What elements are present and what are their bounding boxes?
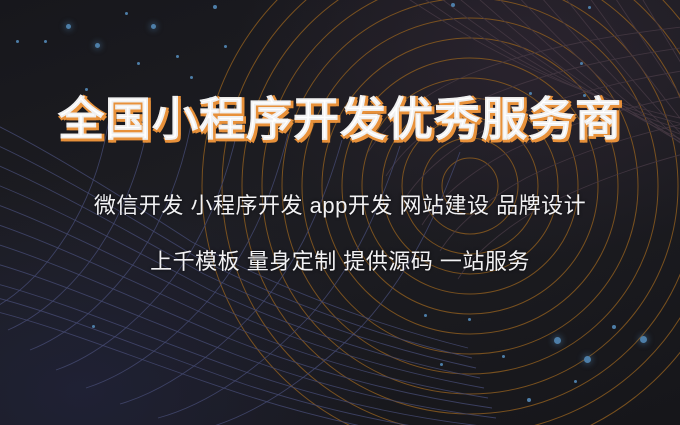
banner-title: 全国小程序开发优秀服务商 [58, 96, 622, 142]
banner-content: 全国小程序开发优秀服务商 微信开发 小程序开发 app开发 网站建设 品牌设计 … [0, 0, 680, 425]
services-line-2: 上千模板 量身定制 提供源码 一站服务 [150, 251, 530, 273]
services-line-1: 微信开发 小程序开发 app开发 网站建设 品牌设计 [94, 195, 586, 217]
promo-banner: 全国小程序开发优秀服务商 微信开发 小程序开发 app开发 网站建设 品牌设计 … [0, 0, 680, 425]
